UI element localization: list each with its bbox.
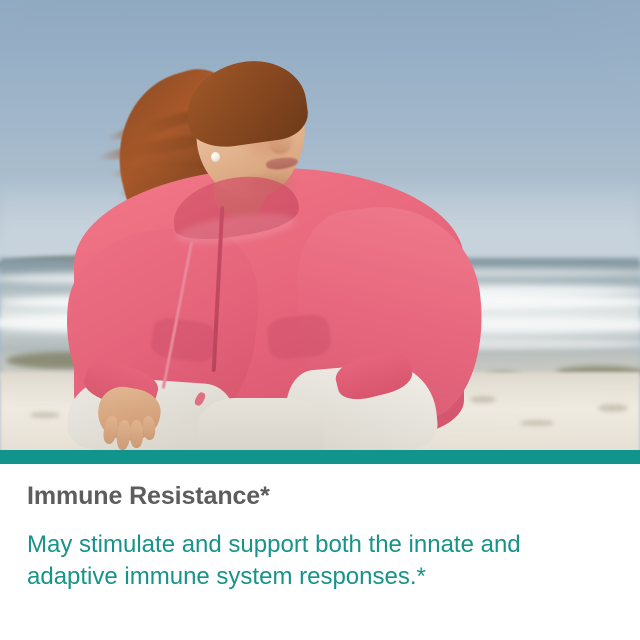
earring xyxy=(211,146,220,162)
benefit-subcopy: May stimulate and support both the innat… xyxy=(27,529,567,593)
woman-subject xyxy=(0,0,640,450)
benefit-headline: Immune Resistance* xyxy=(27,482,270,511)
text-content-block: Immune Resistance* May stimulate and sup… xyxy=(0,464,640,640)
product-benefit-card: Immune Resistance* May stimulate and sup… xyxy=(0,0,640,640)
hero-photo xyxy=(0,0,640,450)
earring-pearl xyxy=(211,152,220,162)
teal-divider-bar xyxy=(0,450,640,464)
hoodie-pocket xyxy=(266,313,332,361)
finger xyxy=(130,420,143,448)
pants-seat xyxy=(198,398,324,450)
